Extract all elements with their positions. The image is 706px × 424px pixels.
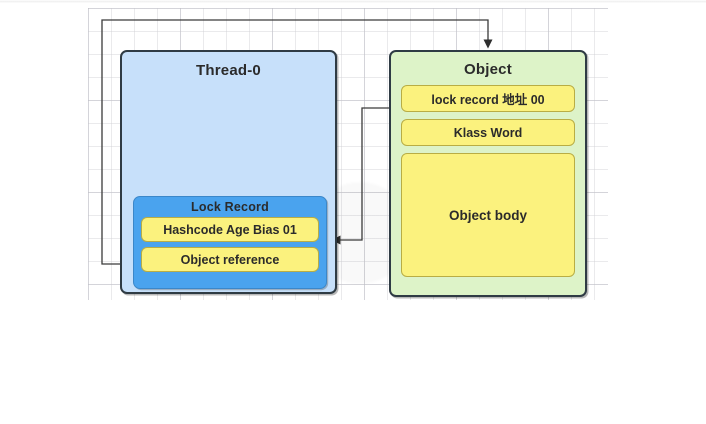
screenshot-root: Thread-0 Lock Record Hashcode Age Bias 0…	[0, 0, 706, 424]
lock-record-slot-objectreference: Object reference	[141, 247, 319, 272]
object-title: Object	[464, 61, 512, 78]
object-slot-markword: lock record 地址 00	[401, 85, 575, 112]
prose-section: 当退出 synchronized 代码块（解锁时）锁记录的值不为 null，这时…	[0, 303, 706, 424]
arrow-object-to-lockrecord	[336, 108, 391, 240]
connector-arrows	[0, 3, 706, 303]
lock-record-title: Lock Record	[191, 200, 269, 214]
thread-box: Thread-0 Lock Record Hashcode Age Bias 0…	[120, 50, 337, 294]
thread-title: Thread-0	[196, 62, 261, 79]
object-body-slot: Object body	[401, 153, 575, 277]
lock-record-box: Lock Record Hashcode Age Bias 01 Object …	[133, 196, 327, 289]
diagram-canvas: Thread-0 Lock Record Hashcode Age Bias 0…	[0, 3, 706, 303]
lock-record-slot-markword: Hashcode Age Bias 01	[141, 217, 319, 242]
object-slot-klassword: Klass Word	[401, 119, 575, 146]
object-box: Object lock record 地址 00 Klass Word Obje…	[389, 50, 587, 297]
